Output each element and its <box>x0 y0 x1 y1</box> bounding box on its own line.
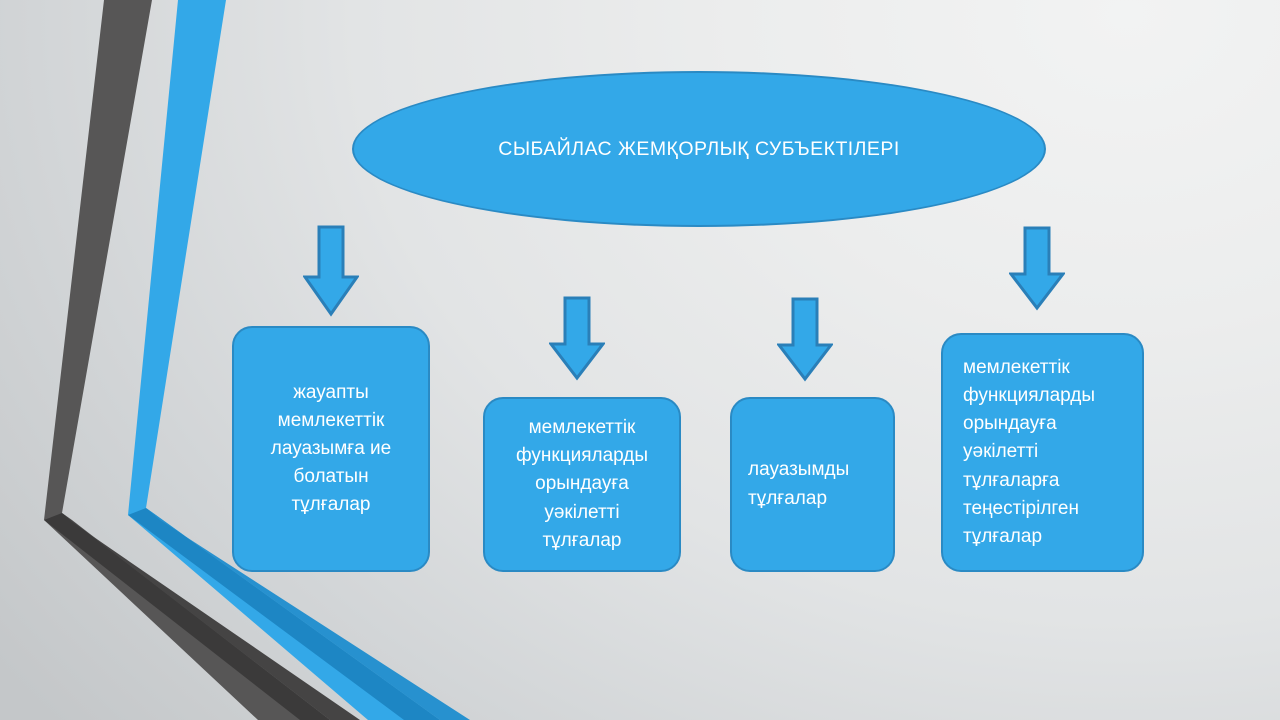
down-arrow-icon <box>1011 228 1063 308</box>
category-box-authorized-state-functions: мемлекеттік функцияларды орындауға уәкіл… <box>483 397 681 572</box>
category-box-label: мемлекеттік функцияларды орындауға уәкіл… <box>963 354 1095 551</box>
category-box-label: мемлекеттік функцияларды орындауға уәкіл… <box>516 414 648 555</box>
arrow-to-box-1 <box>303 225 359 317</box>
page-title: СЫБАЙЛАС ЖЕМҚОРЛЫҚ СУБЪЕКТІЛЕРІ <box>498 138 899 161</box>
category-box-officials: лауазымды тұлғалар <box>730 397 895 572</box>
slide-canvas: СЫБАЙЛАС ЖЕМҚОРЛЫҚ СУБЪЕКТІЛЕРІ жауапты … <box>0 0 1280 720</box>
down-arrow-icon <box>779 299 831 379</box>
arrow-to-box-3 <box>777 297 833 382</box>
category-box-label: лауазымды тұлғалар <box>748 456 849 512</box>
category-box-equated-persons: мемлекеттік функцияларды орындауға уәкіл… <box>941 333 1144 572</box>
category-box-label: жауапты мемлекеттік лауазымға ие болатын… <box>271 379 391 520</box>
arrow-to-box-4 <box>1009 226 1065 311</box>
title-ellipse: СЫБАЙЛАС ЖЕМҚОРЛЫҚ СУБЪЕКТІЛЕРІ <box>352 71 1046 227</box>
category-box-responsible-state-position: жауапты мемлекеттік лауазымға ие болатын… <box>232 326 430 572</box>
down-arrow-icon <box>305 227 357 314</box>
down-arrow-icon <box>551 298 603 378</box>
arrow-to-box-2 <box>549 296 605 381</box>
